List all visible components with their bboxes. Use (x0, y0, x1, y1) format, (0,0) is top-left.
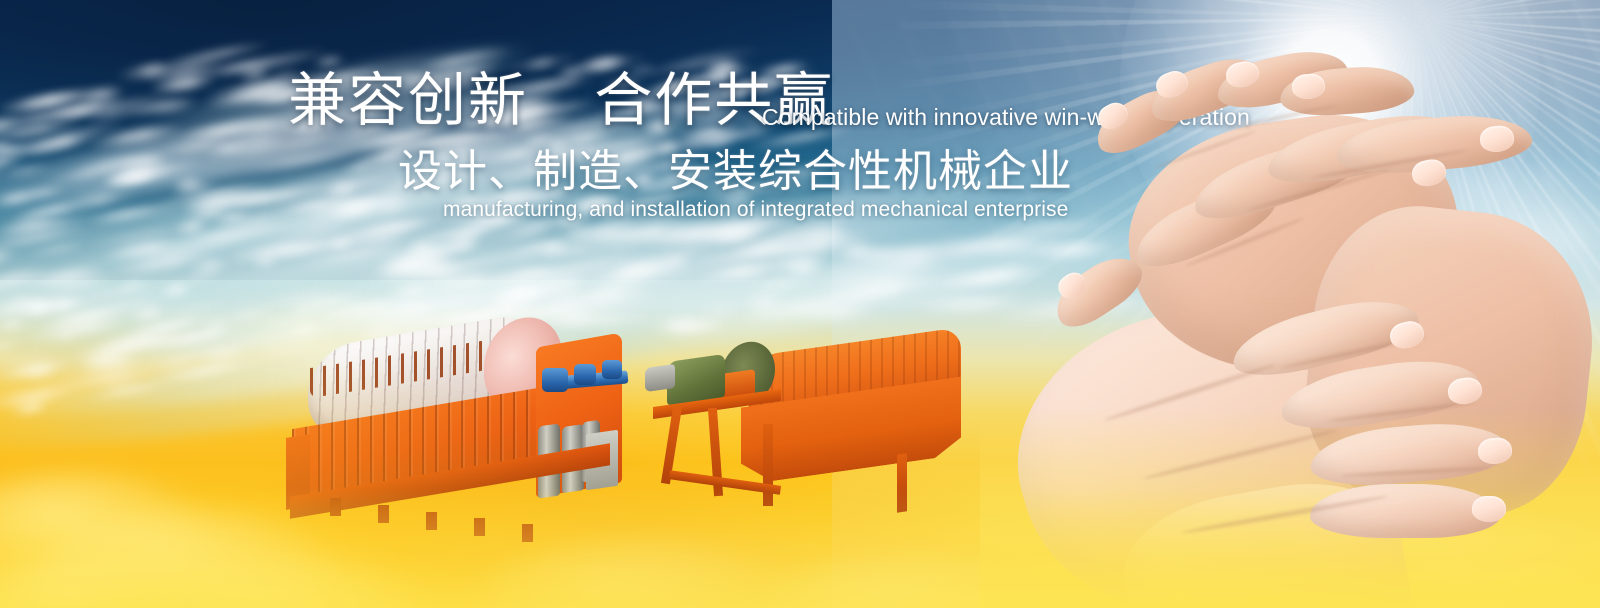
hero-banner: 兼容创新 合作共赢 Compatible with innovative win… (0, 0, 1600, 608)
banner-copy-block: 兼容创新 合作共赢 Compatible with innovative win… (0, 0, 1230, 250)
headline-part-1: 兼容创新 (288, 68, 528, 133)
banner-headline: 兼容创新 合作共赢 (288, 72, 834, 130)
banner-subheadline: 设计、制造、安装综合性机械企业 (398, 150, 1073, 194)
banner-subheadline-english: manufacturing, and installation of integ… (443, 199, 1068, 220)
ceramic-disc-vacuum-filter-image (286, 312, 628, 540)
magnetic-drum-separator-image (645, 336, 965, 514)
fingernail (1472, 496, 1506, 522)
hands-bottom-fade (980, 408, 1600, 608)
